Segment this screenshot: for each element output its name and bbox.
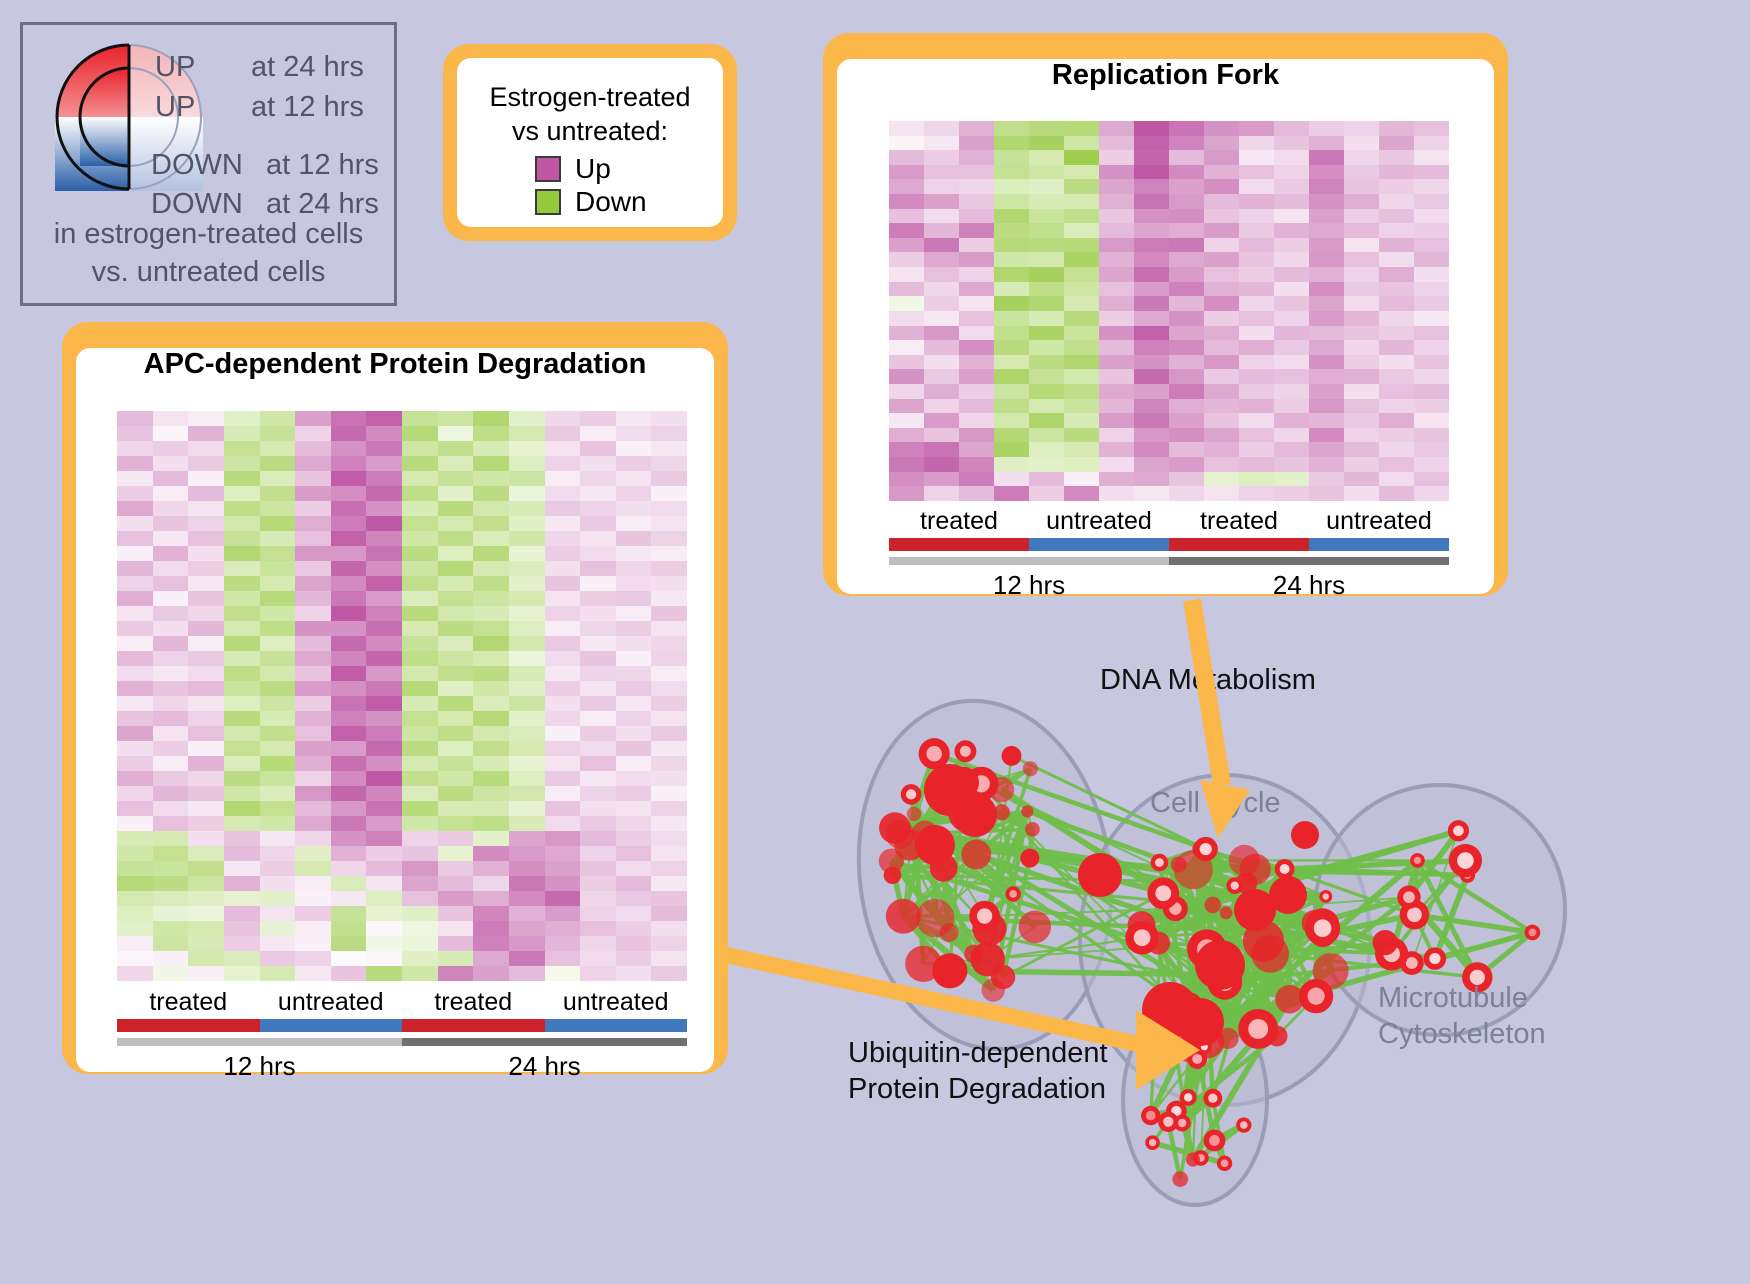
key-row-2-time: at 12 hrs — [266, 149, 379, 182]
heatmap-cell — [1204, 136, 1239, 151]
key-row-2-label: DOWN — [151, 149, 243, 182]
heatmap-cell — [473, 411, 509, 426]
heatmap-cell — [331, 936, 367, 951]
network-node-core — [1307, 988, 1324, 1005]
heatmap-cell — [295, 651, 331, 666]
heatmap-cell — [959, 399, 994, 414]
heatmap-cell — [260, 861, 296, 876]
apc-degradation-group-bar — [117, 1019, 687, 1032]
network-node[interactable] — [886, 899, 921, 934]
heatmap-cell — [924, 179, 959, 194]
heatmap-cell — [260, 846, 296, 861]
heatmap-cell — [1134, 165, 1169, 180]
heatmap-cell — [224, 681, 260, 696]
network-graph — [800, 610, 1750, 1279]
heatmap-cell — [402, 816, 438, 831]
heatmap-cell — [1414, 369, 1449, 384]
replication-fork-card: Replication Fork treated untreated treat… — [823, 33, 1508, 596]
heatmap-cell — [1309, 384, 1344, 399]
heatmap-cell — [889, 355, 924, 370]
heatmap-cell — [545, 606, 581, 621]
heatmap-cell — [153, 891, 189, 906]
heatmap-cell — [295, 666, 331, 681]
heatmap-cell — [545, 681, 581, 696]
heatmap-cell — [331, 531, 367, 546]
heatmap-cell — [1344, 136, 1379, 151]
heatmap-cell — [509, 756, 545, 771]
heatmap-cell — [509, 576, 545, 591]
network-node[interactable] — [1002, 746, 1022, 766]
heatmap-cell — [366, 666, 402, 681]
heatmap-cell — [1414, 472, 1449, 487]
heatmap-cell — [994, 442, 1029, 457]
heatmap-row — [889, 165, 1449, 180]
heatmap-cell — [651, 576, 687, 591]
heatmap-cell — [616, 651, 652, 666]
heatmap-cell — [994, 399, 1029, 414]
network-node-core — [1406, 957, 1418, 969]
heatmap-cell — [1309, 282, 1344, 297]
heatmap-cell — [1344, 442, 1379, 457]
network-node[interactable] — [1025, 822, 1040, 837]
heatmap-cell — [1239, 340, 1274, 355]
heatmap-row — [889, 340, 1449, 355]
heatmap-cell — [473, 921, 509, 936]
heatmap-cell — [1099, 472, 1134, 487]
heatmap-cell — [438, 831, 474, 846]
time-bar-segment — [402, 1038, 687, 1046]
heatmap-cell — [402, 846, 438, 861]
heatmap-cell — [994, 369, 1029, 384]
heatmap-cell — [1029, 355, 1064, 370]
heatmap-cell — [331, 591, 367, 606]
network-node[interactable] — [915, 825, 955, 865]
heatmap-cell — [1064, 428, 1099, 443]
heatmap-cell — [153, 456, 189, 471]
heatmap-cell — [545, 876, 581, 891]
network-node[interactable] — [907, 807, 921, 821]
heatmap-row — [117, 831, 687, 846]
network-node-core — [926, 746, 942, 762]
heatmap-cell — [473, 861, 509, 876]
heatmap-cell — [1414, 428, 1449, 443]
heatmap-cell — [1169, 442, 1204, 457]
heatmap-cell — [1134, 384, 1169, 399]
heatmap-cell — [295, 846, 331, 861]
heatmap-cell — [153, 966, 189, 981]
heatmap-cell — [1134, 150, 1169, 165]
heatmap-cell — [1344, 457, 1379, 472]
heatmap-cell — [1239, 209, 1274, 224]
heatmap-cell — [1274, 413, 1309, 428]
heatmap-cell — [580, 951, 616, 966]
apc-degradation-card: APC-dependent Protein Degradation treate… — [62, 322, 728, 1074]
group-bar-segment — [117, 1019, 260, 1032]
heatmap-cell — [1274, 442, 1309, 457]
heatmap-cell — [1169, 267, 1204, 282]
network-node[interactable] — [1373, 930, 1398, 955]
heatmap-cell — [580, 591, 616, 606]
heatmap-cell — [260, 891, 296, 906]
heatmap-cell — [153, 831, 189, 846]
heatmap-cell — [509, 561, 545, 576]
heatmap-cell — [545, 666, 581, 681]
network-node[interactable] — [879, 812, 911, 844]
heatmap-cell — [1029, 326, 1064, 341]
heatmap-cell — [924, 355, 959, 370]
heatmap-cell — [473, 891, 509, 906]
network-node[interactable] — [940, 923, 959, 942]
heatmap-cell — [959, 267, 994, 282]
network-node[interactable] — [1220, 906, 1233, 919]
heatmap-cell — [438, 741, 474, 756]
heatmap-cell — [260, 591, 296, 606]
heatmap-row — [117, 726, 687, 741]
heatmap-cell — [1344, 399, 1379, 414]
heatmap-cell — [153, 486, 189, 501]
apc-degradation-group-labels: treated untreated treated untreated — [117, 988, 687, 1017]
network-node-core — [1453, 825, 1464, 836]
heatmap-cell — [295, 591, 331, 606]
heatmap-cell — [509, 786, 545, 801]
heatmap-cell — [224, 831, 260, 846]
heatmap-cell — [1379, 194, 1414, 209]
heatmap-cell — [438, 411, 474, 426]
heatmap-cell — [1239, 355, 1274, 370]
heatmap-cell — [366, 951, 402, 966]
heatmap-cell — [889, 267, 924, 282]
network-node[interactable] — [1186, 1152, 1200, 1166]
heatmap-cell — [117, 936, 153, 951]
heatmap-cell — [438, 861, 474, 876]
heatmap-cell — [366, 861, 402, 876]
heatmap-cell — [959, 223, 994, 238]
heatmap-cell — [889, 136, 924, 151]
heatmap-cell — [1379, 472, 1414, 487]
heatmap-cell — [651, 546, 687, 561]
heatmap-cell — [1064, 340, 1099, 355]
heatmap-cell — [366, 531, 402, 546]
heatmap-cell — [295, 516, 331, 531]
heatmap-cell — [580, 936, 616, 951]
heatmap-cell — [1309, 150, 1344, 165]
heatmap-cell — [117, 906, 153, 921]
network-node[interactable] — [989, 777, 1014, 802]
network-node-core — [1149, 1139, 1156, 1146]
heatmap-cell — [924, 413, 959, 428]
heatmap-cell — [224, 861, 260, 876]
heatmap-cell — [1379, 428, 1414, 443]
heatmap-cell — [994, 223, 1029, 238]
heatmap-cell — [366, 891, 402, 906]
heatmap-cell — [1344, 209, 1379, 224]
heatmap-row — [889, 121, 1449, 136]
heatmap-cell — [188, 696, 224, 711]
heatmap-cell — [1134, 355, 1169, 370]
heatmap-cell — [1414, 121, 1449, 136]
heatmap-cell — [924, 267, 959, 282]
heatmap-cell — [153, 696, 189, 711]
heatmap-cell — [402, 666, 438, 681]
heatmap-cell — [224, 651, 260, 666]
heatmap-cell — [366, 816, 402, 831]
heatmap-cell — [651, 456, 687, 471]
heatmap-cell — [331, 966, 367, 981]
heatmap-cell — [1099, 355, 1134, 370]
heatmap-cell — [616, 666, 652, 681]
heatmap-cell — [924, 223, 959, 238]
network-node[interactable] — [961, 839, 991, 869]
heatmap-cell — [651, 966, 687, 981]
heatmap-cell — [1379, 165, 1414, 180]
heatmap-row — [117, 501, 687, 516]
heatmap-cell — [924, 238, 959, 253]
heatmap-cell — [295, 696, 331, 711]
heatmap-row — [117, 966, 687, 981]
heatmap-cell — [438, 846, 474, 861]
heatmap-cell — [438, 636, 474, 651]
heatmap-cell — [1064, 209, 1099, 224]
heatmap-cell — [616, 516, 652, 531]
heatmap-cell — [438, 606, 474, 621]
heatmap-cell — [1029, 311, 1064, 326]
heatmap-cell — [1169, 486, 1204, 501]
heatmap-cell — [545, 636, 581, 651]
heatmap-cell — [616, 411, 652, 426]
heatmap-cell — [580, 801, 616, 816]
heatmap-cell — [889, 311, 924, 326]
heatmap-cell — [1099, 223, 1134, 238]
heatmap-cell — [1134, 282, 1169, 297]
heatmap-cell — [1204, 209, 1239, 224]
heatmap-cell — [616, 966, 652, 981]
heatmap-cell — [651, 876, 687, 891]
heatmap-cell — [1379, 399, 1414, 414]
heatmap-cell — [1414, 150, 1449, 165]
heatmap-row — [117, 936, 687, 951]
heatmap-cell — [1029, 121, 1064, 136]
heatmap-cell — [616, 786, 652, 801]
heatmap-cell — [1309, 442, 1344, 457]
heatmap-cell — [1344, 194, 1379, 209]
heatmap-cell — [545, 441, 581, 456]
heatmap-cell — [1379, 267, 1414, 282]
heatmap-cell — [1344, 252, 1379, 267]
network-node[interactable] — [1078, 853, 1122, 897]
heatmap-cell — [224, 441, 260, 456]
network-node[interactable] — [1021, 805, 1033, 817]
heatmap-cell — [1239, 457, 1274, 472]
network-node[interactable] — [1313, 953, 1349, 989]
heatmap-cell — [366, 921, 402, 936]
network-node-core — [1314, 919, 1332, 937]
heatmap-cell — [260, 696, 296, 711]
heatmap-cell — [651, 696, 687, 711]
network-node[interactable] — [1023, 761, 1038, 776]
heatmap-cell — [295, 951, 331, 966]
heatmap-cell — [331, 501, 367, 516]
group-bar-segment — [402, 1019, 545, 1032]
heatmap-cell — [1414, 238, 1449, 253]
network-node[interactable] — [1204, 897, 1221, 914]
heatmap-cell — [153, 936, 189, 951]
heatmap-cell — [1204, 296, 1239, 311]
heatmap-cell — [509, 531, 545, 546]
heatmap-cell — [473, 666, 509, 681]
heatmap-cell — [295, 501, 331, 516]
heatmap-cell — [1204, 282, 1239, 297]
heatmap-cell — [1204, 472, 1239, 487]
heatmap-row — [117, 621, 687, 636]
heatmap-row — [117, 426, 687, 441]
heatmap-cell — [651, 441, 687, 456]
heatmap-cell — [1169, 121, 1204, 136]
heatmap-row — [117, 606, 687, 621]
heatmap-cell — [1344, 355, 1379, 370]
network-node[interactable] — [1195, 940, 1245, 990]
network-node[interactable] — [1176, 998, 1224, 1046]
network-node[interactable] — [1020, 849, 1039, 868]
heatmap-cell — [402, 876, 438, 891]
heatmap-row — [117, 666, 687, 681]
heatmap-cell — [1134, 472, 1169, 487]
heatmap-cell — [473, 636, 509, 651]
network-node-core — [1323, 893, 1329, 899]
heatmap-cell — [366, 411, 402, 426]
apc-degradation-axis: treated untreated treated untreated 12 h… — [117, 988, 687, 1082]
heatmap-cell — [153, 951, 189, 966]
network-node[interactable] — [884, 866, 902, 884]
heatmap-cell — [889, 486, 924, 501]
heatmap-row — [117, 951, 687, 966]
heatmap-row — [117, 561, 687, 576]
heatmap-cell — [1169, 223, 1204, 238]
network-node[interactable] — [953, 793, 997, 837]
network-node[interactable] — [1275, 985, 1304, 1014]
heatmap-cell — [473, 456, 509, 471]
heatmap-cell — [1134, 457, 1169, 472]
heatmap-cell — [224, 936, 260, 951]
heatmap-cell — [402, 771, 438, 786]
heatmap-cell — [1344, 340, 1379, 355]
heatmap-cell — [545, 951, 581, 966]
heatmap-cell — [1204, 267, 1239, 282]
heatmap-cell — [1239, 282, 1274, 297]
network-node[interactable] — [932, 953, 967, 988]
heatmap-cell — [1204, 413, 1239, 428]
heatmap-cell — [260, 651, 296, 666]
heatmap-cell — [473, 486, 509, 501]
heatmap-cell — [295, 816, 331, 831]
heatmap-cell — [473, 591, 509, 606]
heatmap-cell — [1134, 311, 1169, 326]
heatmap-cell — [1309, 486, 1344, 501]
heatmap-cell — [1029, 267, 1064, 282]
heatmap-cell — [224, 486, 260, 501]
heatmap-cell — [331, 771, 367, 786]
color-key-box: UP at 24 hrs UP at 12 hrs DOWN at 12 hrs… — [20, 22, 397, 306]
heatmap-cell — [651, 726, 687, 741]
heatmap-cell — [924, 369, 959, 384]
heatmap-cell — [117, 441, 153, 456]
heatmap-cell — [616, 936, 652, 951]
heatmap-cell — [545, 531, 581, 546]
heatmap-cell — [1344, 223, 1379, 238]
heatmap-cell — [402, 501, 438, 516]
heatmap-cell — [889, 282, 924, 297]
network-node[interactable] — [1240, 854, 1271, 885]
heatmap-cell — [1274, 150, 1309, 165]
heatmap-cell — [994, 136, 1029, 151]
heatmap-cell — [1064, 369, 1099, 384]
heatmap-cell — [616, 576, 652, 591]
heatmap-cell — [545, 651, 581, 666]
network-node[interactable] — [1172, 1171, 1188, 1187]
heatmap-cell — [509, 591, 545, 606]
heatmap-cell — [402, 831, 438, 846]
heatmap-cell — [959, 136, 994, 151]
heatmap-cell — [188, 471, 224, 486]
heatmap-cell — [117, 576, 153, 591]
heatmap-cell — [1064, 136, 1099, 151]
heatmap-cell — [117, 666, 153, 681]
heatmap-cell — [1064, 121, 1099, 136]
heatmap-cell — [1169, 428, 1204, 443]
heatmap-cell — [1169, 369, 1204, 384]
heatmap-cell — [438, 876, 474, 891]
network-node-core — [1184, 1093, 1192, 1101]
heatmap-cell — [924, 340, 959, 355]
heatmap-cell — [1029, 252, 1064, 267]
heatmap-cell — [117, 831, 153, 846]
heatmap-cell — [224, 906, 260, 921]
heatmap-cell — [331, 891, 367, 906]
heatmap-cell — [1414, 442, 1449, 457]
heatmap-cell — [545, 816, 581, 831]
heatmap-cell — [188, 651, 224, 666]
heatmap-cell — [1169, 179, 1204, 194]
heatmap-cell — [295, 486, 331, 501]
heatmap-cell — [1169, 355, 1204, 370]
network-node[interactable] — [1269, 876, 1307, 914]
heatmap-cell — [1169, 296, 1204, 311]
group-label-0: treated — [889, 507, 1029, 536]
heatmap-cell — [580, 906, 616, 921]
heatmap-cell — [117, 816, 153, 831]
heatmap-cell — [473, 846, 509, 861]
heatmap-cell — [402, 891, 438, 906]
heatmap-cell — [438, 921, 474, 936]
heatmap-cell — [545, 516, 581, 531]
heatmap-cell — [473, 651, 509, 666]
network-node[interactable] — [991, 965, 1015, 989]
heatmap-cell — [924, 136, 959, 151]
network-node[interactable] — [1291, 821, 1319, 849]
heatmap-cell — [651, 471, 687, 486]
heatmap-cell — [188, 666, 224, 681]
heatmap-cell — [959, 194, 994, 209]
heatmap-cell — [1099, 267, 1134, 282]
network-node[interactable] — [1019, 911, 1051, 943]
heatmap-cell — [1064, 179, 1099, 194]
heatmap-cell — [580, 816, 616, 831]
heatmap-cell — [438, 426, 474, 441]
heatmap-cell — [889, 428, 924, 443]
heatmap-cell — [1309, 311, 1344, 326]
heatmap-cell — [402, 801, 438, 816]
heatmap-cell — [1099, 121, 1134, 136]
heatmap-cell — [580, 756, 616, 771]
